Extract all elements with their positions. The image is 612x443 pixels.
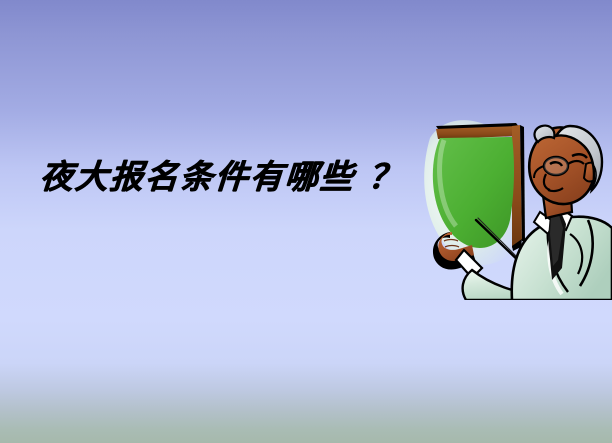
slide-canvas: 夜大报名条件有哪些 ？ (0, 0, 612, 443)
teacher-illustration (420, 108, 612, 300)
page-title: 夜大报名条件有哪些 ？ (39, 157, 405, 197)
